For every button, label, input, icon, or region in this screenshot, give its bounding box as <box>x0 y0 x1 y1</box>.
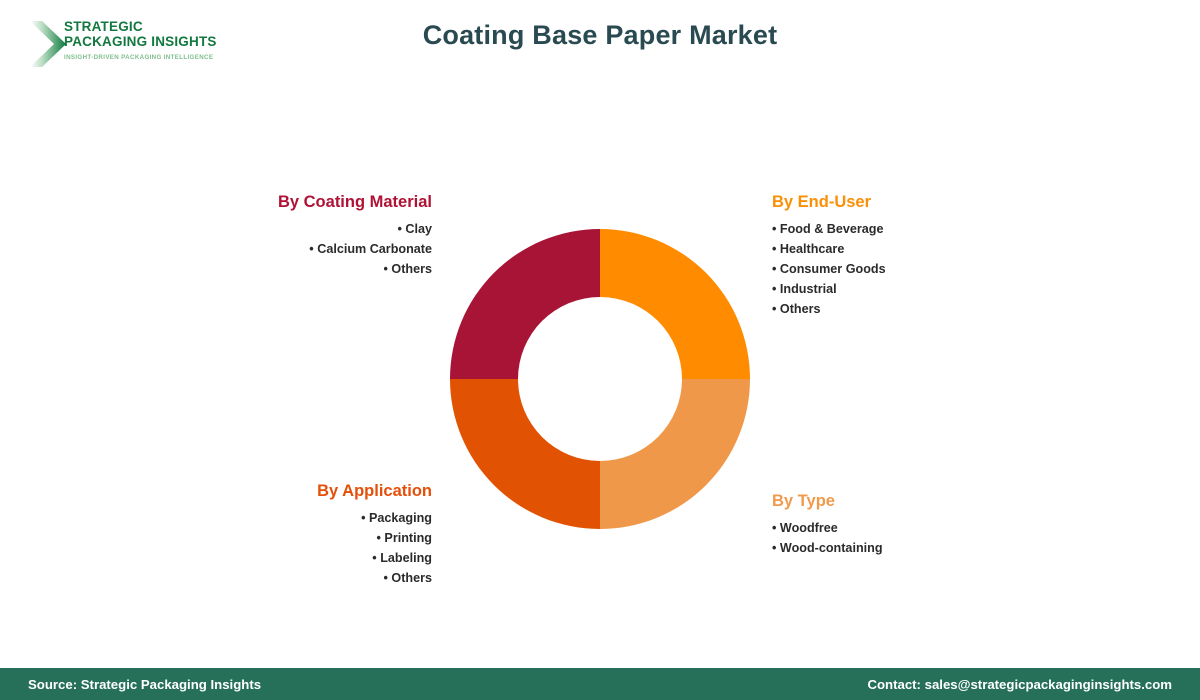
segment-title-type: By Type <box>772 492 1072 511</box>
donut-chart <box>450 229 750 529</box>
segment-list-application: Packaging Printing Labeling Others <box>130 508 432 588</box>
segment-type: By Type Woodfree Wood-containing <box>772 492 1072 558</box>
donut-slice-coating-material[interactable] <box>450 229 600 379</box>
donut-slice-type[interactable] <box>600 379 750 529</box>
segment-end-user: By End-User Food & Beverage Healthcare C… <box>772 193 1072 319</box>
brand-tagline: INSIGHT-DRIVEN PACKAGING INTELLIGENCE <box>64 54 230 61</box>
list-item: Consumer Goods <box>772 259 1072 279</box>
list-item: Packaging <box>130 508 432 528</box>
list-item: Labeling <box>130 548 432 568</box>
segment-list-coating-material: Clay Calcium Carbonate Others <box>160 219 432 279</box>
list-item: Others <box>130 568 432 588</box>
footer-bar: Source: Strategic Packaging Insights Con… <box>0 668 1200 700</box>
segment-coating-material: By Coating Material Clay Calcium Carbona… <box>160 193 432 279</box>
list-item: Others <box>772 299 1072 319</box>
list-item: Food & Beverage <box>772 219 1072 239</box>
segment-application: By Application Packaging Printing Labeli… <box>130 482 432 588</box>
page-title: Coating Base Paper Market <box>0 20 1200 51</box>
list-item: Industrial <box>772 279 1072 299</box>
footer-source: Source: Strategic Packaging Insights <box>28 677 261 692</box>
segment-list-end-user: Food & Beverage Healthcare Consumer Good… <box>772 219 1072 319</box>
list-item: Healthcare <box>772 239 1072 259</box>
donut-slice-end-user[interactable] <box>600 229 750 379</box>
segment-title-coating-material: By Coating Material <box>160 193 432 212</box>
segment-title-end-user: By End-User <box>772 193 1072 212</box>
footer-contact: Contact: sales@strategicpackaginginsight… <box>867 677 1172 692</box>
list-item: Printing <box>130 528 432 548</box>
list-item: Clay <box>160 219 432 239</box>
donut-slice-application[interactable] <box>450 379 600 529</box>
segment-list-type: Woodfree Wood-containing <box>772 518 1072 558</box>
list-item: Others <box>160 259 432 279</box>
segment-title-application: By Application <box>130 482 432 501</box>
list-item: Woodfree <box>772 518 1072 538</box>
list-item: Wood-containing <box>772 538 1072 558</box>
list-item: Calcium Carbonate <box>160 239 432 259</box>
